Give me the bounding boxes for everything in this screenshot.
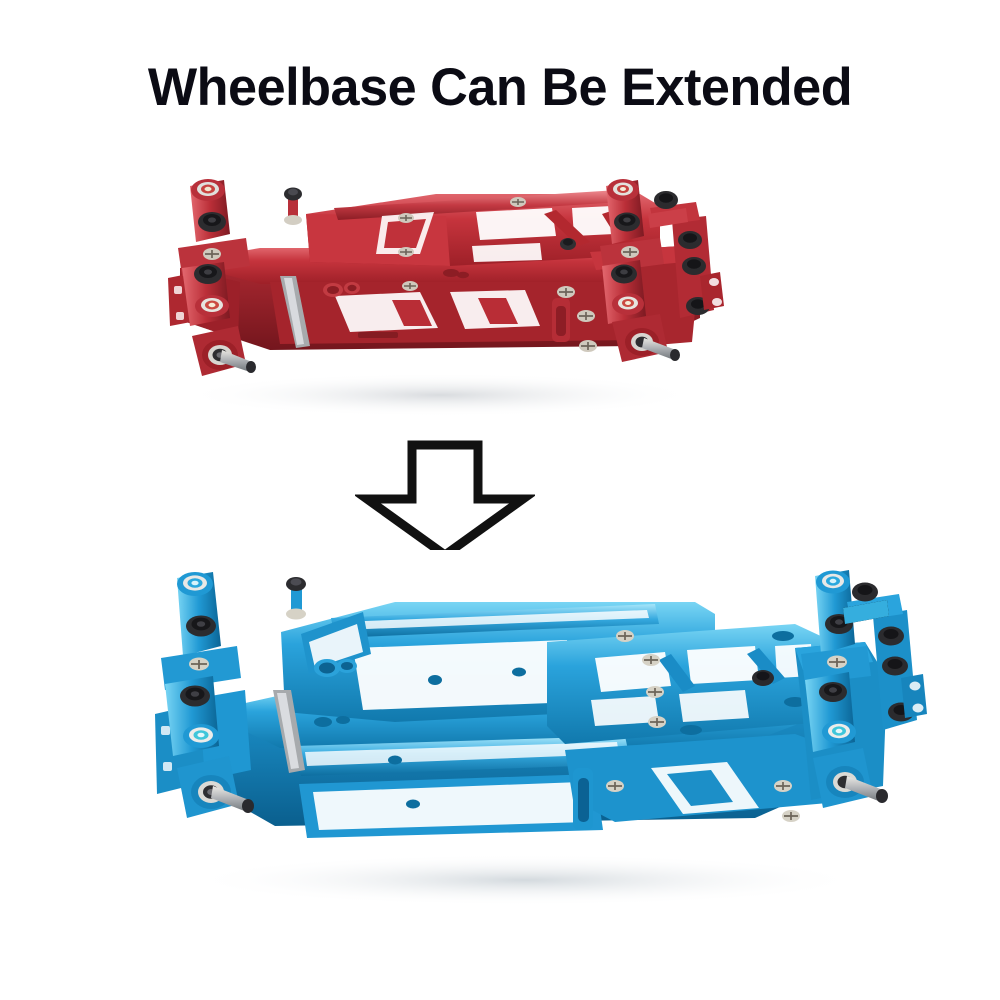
front-lower-arm-mount xyxy=(165,676,219,756)
product-image-canvas: Wheelbase Can Be Extended xyxy=(0,0,1000,1000)
rear-lower-arm-mount xyxy=(602,260,646,324)
page-title: Wheelbase Can Be Extended xyxy=(8,58,993,118)
rear-upper-arm-mount xyxy=(606,179,644,244)
red-chassis-photo xyxy=(120,150,740,420)
down-arrow-icon xyxy=(355,437,535,562)
front-lower-arm-mount xyxy=(182,262,230,326)
rear-lower-arm-mount xyxy=(805,672,856,752)
front-upper-arm-mount xyxy=(190,179,230,242)
blue-chassis-photo xyxy=(95,550,935,910)
